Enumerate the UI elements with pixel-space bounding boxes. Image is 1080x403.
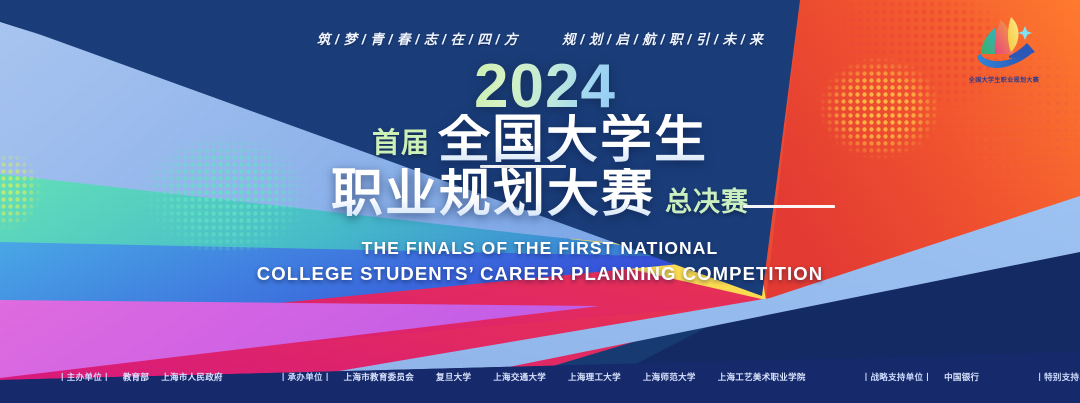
competition-logo: 全国大学生职业规划大赛 <box>950 12 1058 94</box>
credit-organization: 上海市人民政府 <box>161 373 223 382</box>
credits-bar: 丨主办单位丨教育部上海市人民政府丨承办单位丨上海市教育委员会复旦大学上海交通大学… <box>0 373 1080 382</box>
credit-organization: 上海理工大学 <box>568 373 621 382</box>
year-heading: 2024 <box>474 56 616 118</box>
credit-organization: 上海市教育委员会 <box>344 373 414 382</box>
credit-organization: 教育部 <box>123 373 149 382</box>
title-main-line1: 全国大学生 <box>438 114 708 166</box>
credit-organization: 上海交通大学 <box>493 373 546 382</box>
english-subtitle-line2: COLLEGE STUDENTS’ CAREER PLANNING COMPET… <box>257 261 824 288</box>
sail-boat-icon <box>965 12 1043 74</box>
title-main-line2: 职业规划大赛 <box>331 168 655 220</box>
title-line-two: 职业规划大赛 总决赛 <box>331 168 749 220</box>
title-block: 2024 首届 全国大学生 职业规划大赛 总决赛 THE FINALS OF T… <box>0 56 1080 288</box>
title-prefix: 首届 <box>372 129 430 166</box>
credit-label: 丨主办单位丨 <box>58 373 111 382</box>
english-subtitle: THE FINALS OF THE FIRST NATIONAL COLLEGE… <box>257 236 824 288</box>
tagline-right: 规 / 划 / 启 / 航 / 职 / 引 / 未 / 来 <box>562 28 763 48</box>
logo-caption: 全国大学生职业规划大赛 <box>969 75 1039 84</box>
credit-organization: 上海师范大学 <box>643 373 696 382</box>
credit-organization: 上海工艺美术职业学院 <box>718 373 806 382</box>
tagline: 筑 / 梦 / 青 / 春 / 志 / 在 / 四 / 方 规 / 划 / 启 … <box>0 28 1080 48</box>
tagline-left: 筑 / 梦 / 青 / 春 / 志 / 在 / 四 / 方 <box>317 28 518 48</box>
credit-organization: 中国银行 <box>944 373 979 382</box>
title-suffix: 总决赛 <box>665 189 749 220</box>
title-underline-right <box>743 205 835 208</box>
credit-label: 丨特别支持单位丨 <box>1035 373 1080 382</box>
credit-label: 丨承办单位丨 <box>279 373 332 382</box>
title-line-one: 首届 全国大学生 <box>372 114 708 166</box>
event-poster: 筑 / 梦 / 青 / 春 / 志 / 在 / 四 / 方 规 / 划 / 启 … <box>0 0 1080 403</box>
english-subtitle-line1: THE FINALS OF THE FIRST NATIONAL <box>257 236 824 261</box>
credit-label: 丨战略支持单位丨 <box>862 373 932 382</box>
credit-organization: 复旦大学 <box>436 373 471 382</box>
